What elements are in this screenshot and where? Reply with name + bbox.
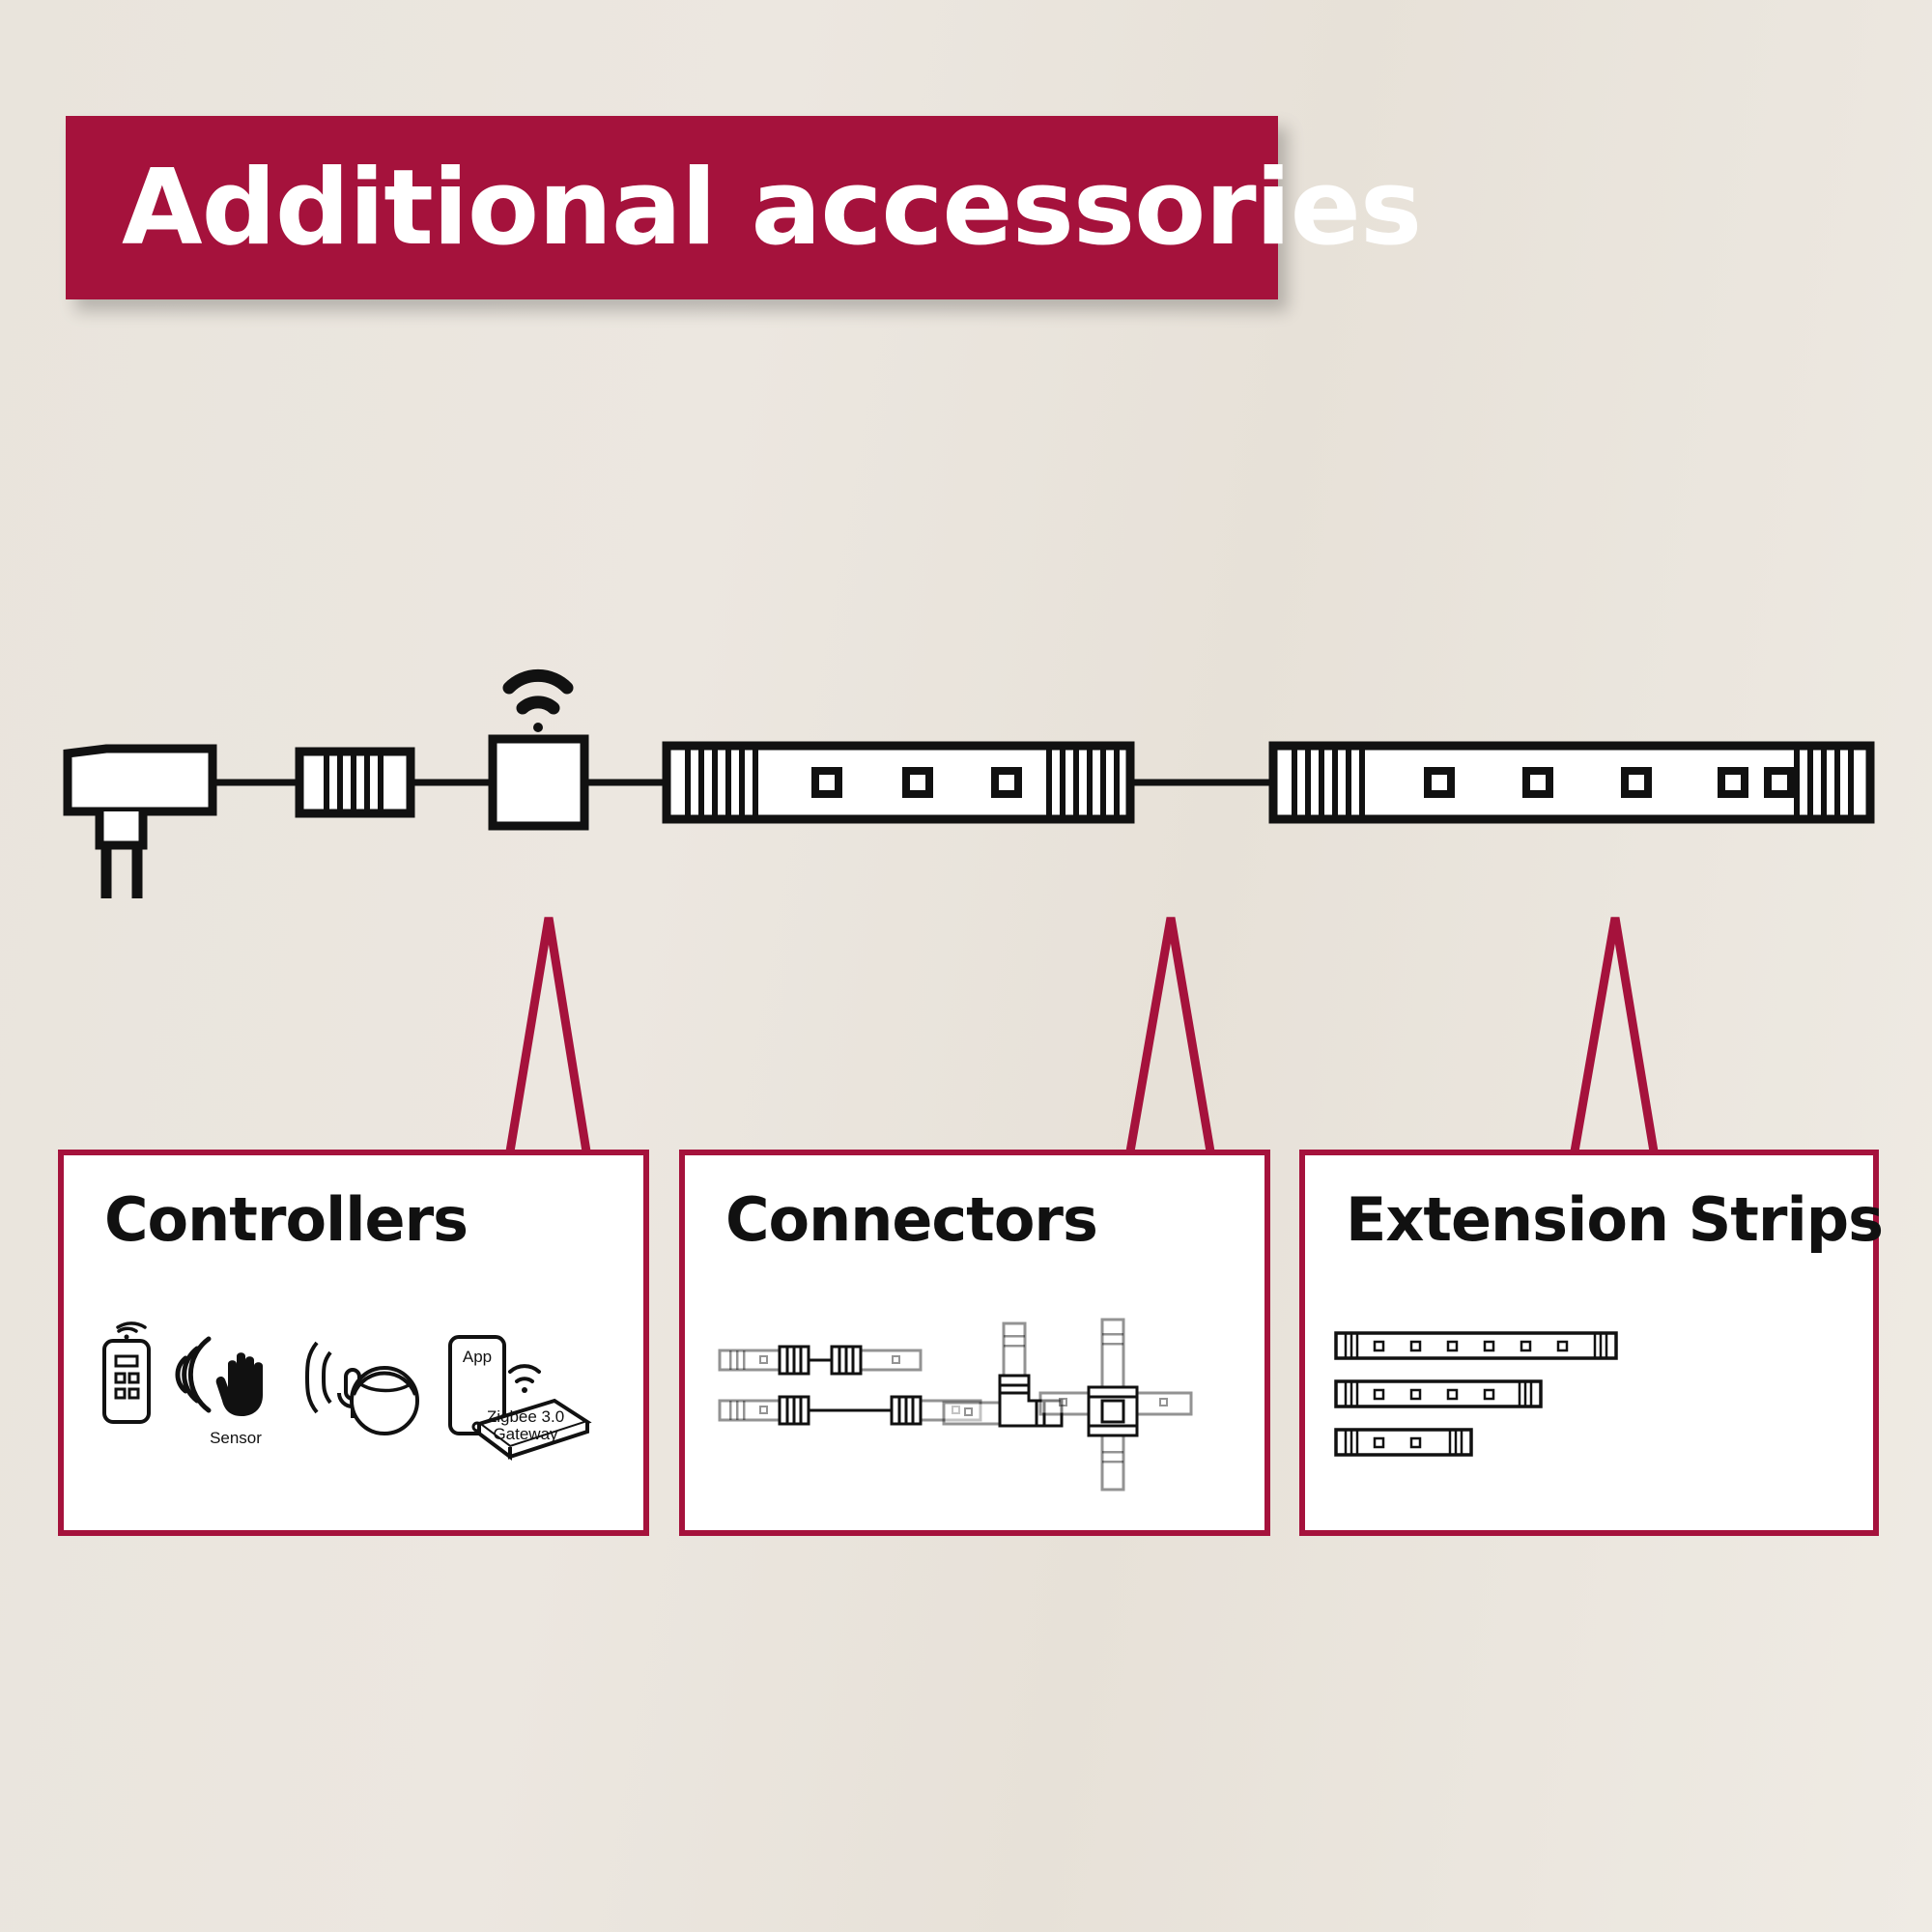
card-extensions[interactable]: Extension Strips: [1299, 1150, 1879, 1536]
card-controllers-title: Controllers: [104, 1184, 468, 1255]
power-supply-driver: [68, 749, 213, 898]
wifi-controller: [493, 739, 584, 826]
diagram-canvas: Additional accessories: [0, 0, 1932, 1932]
sensor-label: Sensor: [210, 1429, 262, 1447]
led-strip-segment-1: [667, 746, 1130, 819]
card-connectors[interactable]: Connectors: [679, 1150, 1270, 1536]
arrow-extensions: [1575, 918, 1654, 1151]
remote-control-icon: [104, 1323, 149, 1422]
zigbee-gateway-icon: Zigbee 3.0 Gateway: [479, 1401, 587, 1457]
card-controllers[interactable]: Controllers: [58, 1150, 649, 1536]
app-label: App: [463, 1348, 492, 1366]
zigbee-label-line1: Zigbee 3.0: [487, 1407, 564, 1426]
card-extensions-artwork: [1305, 1300, 1873, 1520]
card-connectors-artwork: [685, 1300, 1264, 1520]
arrow-connectors: [1130, 918, 1210, 1151]
voice-assistant-icon: [307, 1343, 417, 1434]
hand-icon: [216, 1352, 263, 1416]
strip-to-strip-connector-icon: [720, 1347, 921, 1374]
page-title: Additional accessories: [66, 148, 1421, 269]
led-strip-segment-2: [1273, 746, 1870, 819]
motion-sensor-icon: Sensor: [178, 1339, 263, 1447]
card-extensions-title: Extension Strips: [1346, 1184, 1883, 1255]
extension-strip-long-icon: [1336, 1333, 1616, 1358]
extension-strip-medium-icon: [1336, 1381, 1541, 1406]
smart-speaker-icon: [352, 1368, 417, 1434]
card-controllers-artwork: Sensor: [64, 1300, 643, 1520]
phone-wifi-icon: [510, 1366, 539, 1393]
arrow-controllers: [510, 918, 586, 1151]
page-title-banner: Additional accessories: [66, 116, 1278, 299]
cross-connector-icon: [1040, 1320, 1191, 1490]
strip-connector-1: [299, 752, 411, 813]
zigbee-label-line2: Gateway: [493, 1425, 558, 1443]
strip-cable-connector-icon: [720, 1397, 980, 1424]
card-connectors-title: Connectors: [725, 1184, 1097, 1255]
extension-strip-short-icon: [1336, 1430, 1471, 1455]
wifi-icon: [509, 675, 567, 732]
